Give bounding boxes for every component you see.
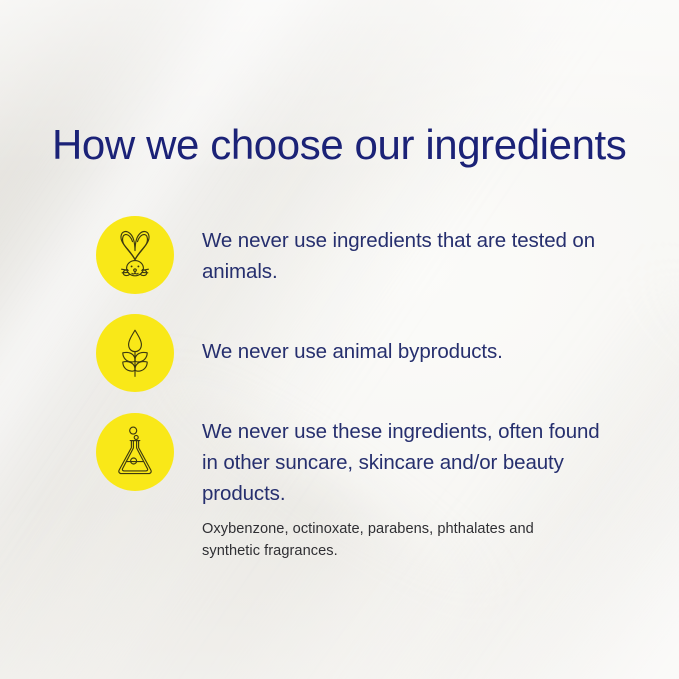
ingredient-principles-card: How we choose our ingredients <box>0 0 679 679</box>
bunny-heart-ears-icon <box>112 229 158 281</box>
claim-icon-badge <box>96 413 174 491</box>
list-item: We never use ingredients that are tested… <box>96 216 636 294</box>
claim-icon-badge <box>96 216 174 294</box>
page-title: How we choose our ingredients <box>52 121 626 169</box>
plant-leaf-sprig-icon <box>115 328 155 378</box>
content-layer: How we choose our ingredients <box>0 0 679 679</box>
claims-list: We never use ingredients that are tested… <box>96 216 636 562</box>
claim-text: We never use ingredients that are tested… <box>202 225 602 287</box>
claim-subtext: Oxybenzone, octinoxate, parabens, phthal… <box>202 518 562 562</box>
claim-icon-badge <box>96 314 174 392</box>
list-item: We never use animal byproducts. <box>96 314 636 392</box>
list-item: We never use these ingredients, often fo… <box>96 413 636 562</box>
claim-body: We never use animal byproducts. <box>174 314 636 367</box>
claim-body: We never use these ingredients, often fo… <box>174 413 636 562</box>
chemistry-flask-icon <box>114 426 156 478</box>
claim-body: We never use ingredients that are tested… <box>174 216 636 287</box>
claim-text: We never use animal byproducts. <box>202 336 602 367</box>
claim-text: We never use these ingredients, often fo… <box>202 416 604 509</box>
